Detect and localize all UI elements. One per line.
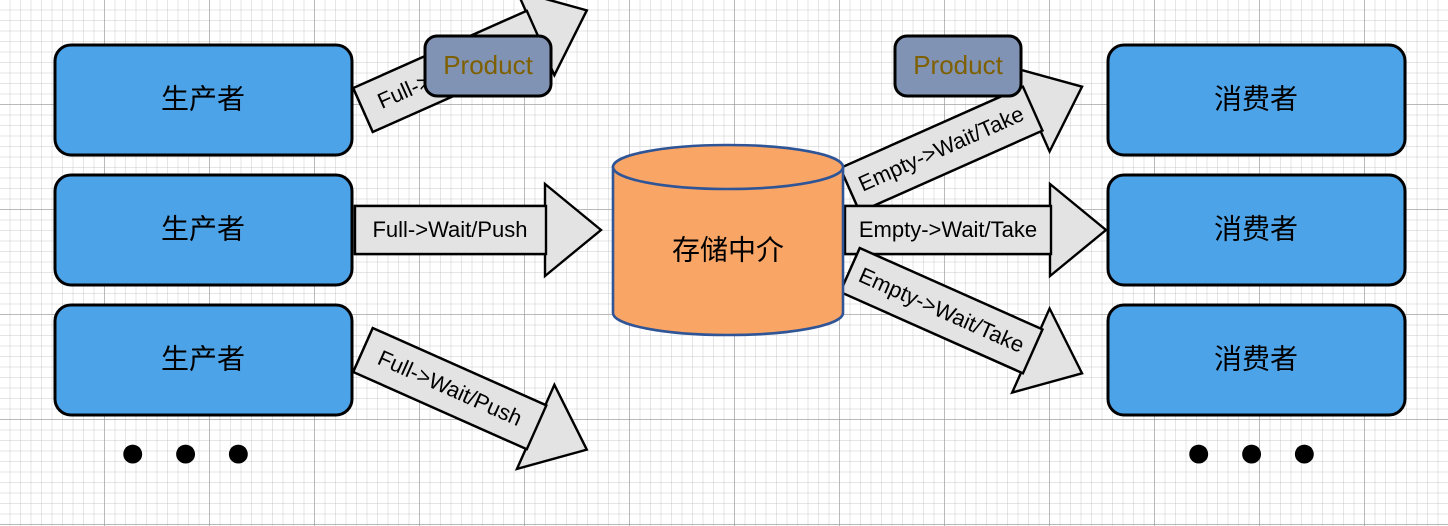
consumer-ellipsis: ● ● ●	[1185, 428, 1324, 477]
producer-node-2[interactable]: 生产者	[55, 175, 352, 285]
producer-node-1[interactable]: 生产者	[55, 45, 352, 155]
producer-label: 生产者	[161, 83, 245, 114]
product-badge-label: Product	[443, 50, 533, 80]
consumer-node-1[interactable]: 消费者	[1108, 45, 1405, 155]
storage-label: 存储中介	[672, 234, 784, 265]
consumer-label: 消费者	[1214, 83, 1298, 114]
producer-label: 生产者	[161, 213, 245, 244]
cylinder-top-ellipse	[613, 145, 843, 189]
take-edge-label: Empty->Wait/Take	[859, 217, 1037, 242]
storage-cylinder[interactable]: 存储中介	[613, 145, 843, 335]
consumer-node-2[interactable]: 消费者	[1108, 175, 1405, 285]
producer-ellipsis: ● ● ●	[119, 428, 258, 477]
consumer-node-3[interactable]: 消费者	[1108, 305, 1405, 415]
producer-label: 生产者	[161, 343, 245, 374]
push-arrow-middle: Full->Wait/Push	[355, 184, 601, 276]
consumer-label: 消费者	[1214, 213, 1298, 244]
push-edge-label: Full->Wait/Push	[372, 217, 527, 242]
push-arrow-bottom: Full->Wait/Push	[344, 308, 605, 492]
consumer-label: 消费者	[1214, 343, 1298, 374]
diagram-svg: Full->Wait/Push Full->Wait/Push Full->Wa…	[0, 0, 1448, 526]
product-badge-label: Product	[913, 50, 1003, 80]
product-badge-left[interactable]: Product	[425, 36, 551, 96]
producer-node-3[interactable]: 生产者	[55, 305, 352, 415]
product-badge-right[interactable]: Product	[895, 36, 1021, 96]
diagram-canvas: Full->Wait/Push Full->Wait/Push Full->Wa…	[0, 0, 1448, 526]
